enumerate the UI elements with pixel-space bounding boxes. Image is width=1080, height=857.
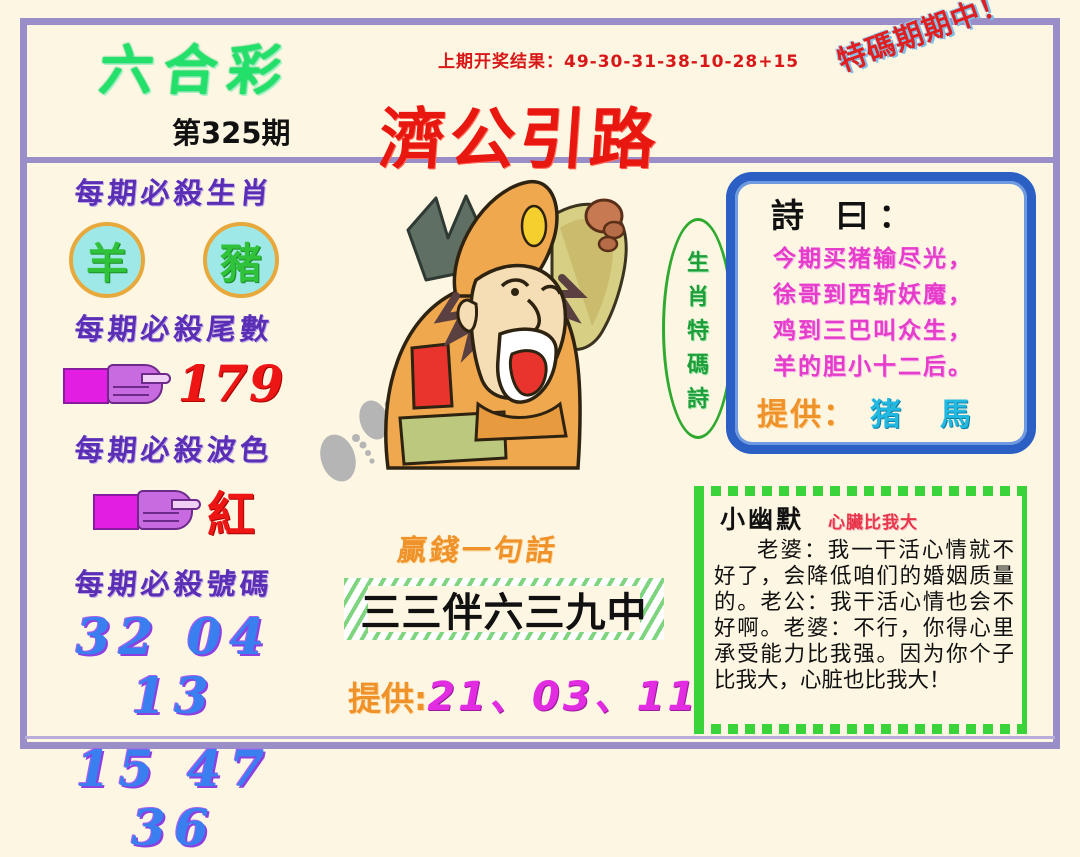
pointing-hand-icon	[63, 360, 171, 408]
oval-char-1: 生	[687, 245, 709, 277]
oval-char-4: 碼	[687, 347, 709, 379]
humor-header: 小幽默 心臟比我大	[720, 500, 1014, 536]
poem-title: 詩 曰：	[771, 189, 1027, 237]
win-phrase-text: 三三伴六三九中	[361, 580, 648, 638]
poem-credit-animals: 猪 馬	[870, 397, 985, 433]
win-phrase-band: 三三伴六三九中	[344, 578, 664, 640]
kill-number-row-2: 15 47 36	[24, 739, 324, 857]
provide-label: 提供:	[348, 679, 427, 718]
humor-subtitle: 心臟比我大	[828, 508, 918, 533]
win-phrase-title: 贏錢一句話	[395, 527, 561, 569]
poem-credit: 提供：猪 馬	[757, 389, 1027, 434]
poem-line-4: 羊的胆小十二后。	[773, 347, 1027, 381]
kill-tail-row: 179	[24, 354, 324, 413]
zodiac-badge-1: 羊	[69, 222, 145, 298]
poem-line-1: 今期买猪输尽光，	[773, 239, 1027, 273]
kill-number-label: 每期必殺號碼	[22, 561, 326, 603]
poem-credit-label: 提供：	[757, 397, 856, 433]
provide-numbers: 21、03、11	[427, 674, 698, 720]
oval-char-5: 詩	[687, 381, 709, 413]
kill-color-row: 紅	[24, 475, 324, 545]
last-draw-result: 上期开奖结果：49-30-31-38-10-28+15	[438, 47, 799, 72]
jigong-monk-illustration	[316, 168, 666, 498]
site-logo: 六合彩	[96, 26, 296, 105]
robe-patch-red	[412, 344, 452, 408]
kill-zodiac-label: 每期必殺生肖	[22, 170, 326, 212]
poem-line-2: 徐哥到西斩妖魔，	[773, 275, 1027, 309]
humor-title: 小幽默	[720, 500, 804, 536]
zodiac-badge-2: 豬	[203, 222, 279, 298]
kill-zodiac-values: 羊 豬	[24, 222, 324, 298]
tongue	[510, 351, 546, 395]
hat-gem	[522, 206, 546, 246]
oval-char-2: 肖	[687, 279, 709, 311]
oval-char-3: 特	[687, 313, 709, 345]
ear	[458, 300, 477, 331]
poem-line-3: 鸡到三巴叫众生，	[773, 311, 1027, 345]
humor-body: 老婆：我一干活心情就不好了，会降低咱们的婚姻质量的。老公：我干活心情也会不好啊。…	[714, 538, 1014, 694]
poem-box: 詩 曰： 今期买猪输尽光， 徐哥到西斩妖魔， 鸡到三巴叫众生， 羊的胆小十二后。…	[726, 172, 1036, 454]
kill-tail-label: 每期必殺尾數	[22, 306, 326, 348]
humor-box: 小幽默 心臟比我大 老婆：我一干活心情就不好了，会降低咱们的婚姻质量的。老公：我…	[694, 486, 1032, 734]
poster-page: 六合彩 第325期 上期开奖结果：49-30-31-38-10-28+15 濟公…	[0, 0, 1080, 765]
pointing-hand-icon-2	[93, 486, 201, 534]
kill-number-row-1: 32 04 13	[24, 607, 324, 725]
provide-row: 提供:21、03、11	[348, 664, 698, 722]
kill-color-value: 紅	[207, 475, 255, 545]
kill-tail-value: 179	[177, 354, 284, 413]
issue-number: 第325期	[172, 110, 291, 152]
kill-color-label: 每期必殺波色	[22, 427, 326, 469]
zodiac-poem-oval: 生 肖 特 碼 詩	[662, 218, 734, 439]
left-predictions-column: 每期必殺生肖 羊 豬 每期必殺尾數 179 每期必殺波色 紅 每期必殺號碼 32…	[24, 170, 324, 857]
